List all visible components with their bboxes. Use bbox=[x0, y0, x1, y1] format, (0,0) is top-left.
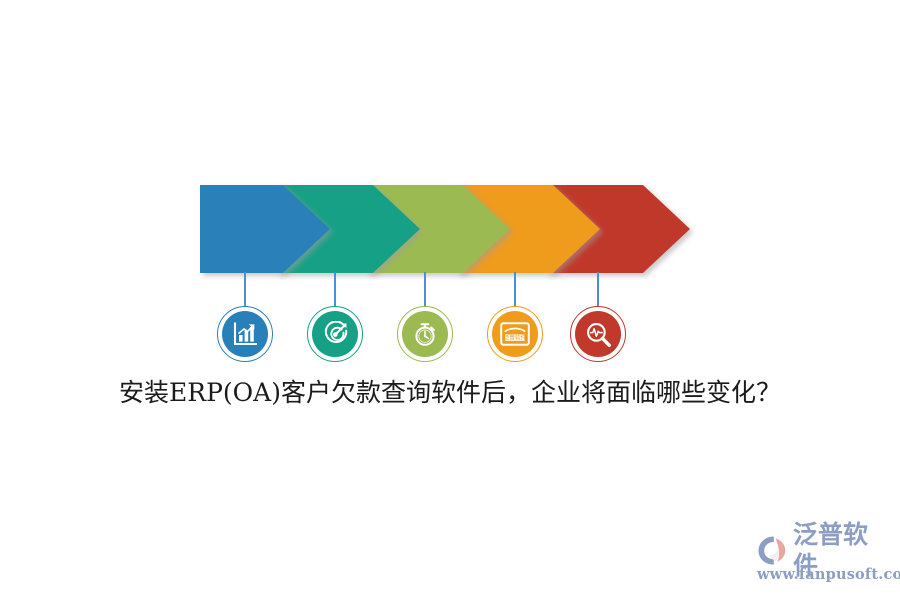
step-icon-node-4[interactable]: 泛普软件 bbox=[487, 306, 543, 362]
watermark-url-text: www.fanpusoft.com bbox=[757, 566, 892, 584]
connector-line-4 bbox=[514, 272, 516, 306]
step-4-disc: 泛普软件 bbox=[492, 311, 538, 357]
chevron-ribbon-svg bbox=[190, 178, 700, 280]
connector-line-1 bbox=[244, 272, 246, 306]
software-screen-icon-label: 泛普软件 bbox=[504, 334, 527, 342]
magnifier-pulse-icon bbox=[585, 321, 612, 348]
step-icon-node-2[interactable] bbox=[307, 306, 363, 362]
target-dartboard-icon bbox=[322, 321, 349, 348]
step-5-disc bbox=[575, 311, 621, 357]
connector-line-3 bbox=[424, 272, 426, 306]
watermark-logo-row: 泛普软件 bbox=[757, 533, 892, 567]
step-icon-node-1[interactable] bbox=[217, 306, 273, 362]
infographic-canvas: 泛普软件 安装ERP(OA)客户欠款查询软件后，企业将面临哪些变化？ bbox=[0, 0, 900, 600]
step-3-disc bbox=[402, 311, 448, 357]
page-caption: 安装ERP(OA)客户欠款查询软件后，企业将面临哪些变化？ bbox=[0, 376, 900, 410]
connector-line-5 bbox=[597, 272, 599, 306]
step-1-disc bbox=[222, 311, 268, 357]
chevron-ribbon bbox=[190, 178, 700, 280]
stopwatch-icon bbox=[412, 321, 438, 347]
step-2-disc bbox=[312, 311, 358, 357]
bar-chart-growth-icon bbox=[232, 321, 258, 347]
step-icon-node-5[interactable] bbox=[570, 306, 626, 362]
connector-line-2 bbox=[334, 272, 336, 306]
software-screen-icon: 泛普软件 bbox=[500, 322, 530, 346]
watermark-logo: 泛普软件 www.fanpusoft.com bbox=[757, 533, 892, 589]
step-icon-node-3[interactable] bbox=[397, 306, 453, 362]
fanpu-leaf-logo-icon bbox=[757, 535, 790, 566]
